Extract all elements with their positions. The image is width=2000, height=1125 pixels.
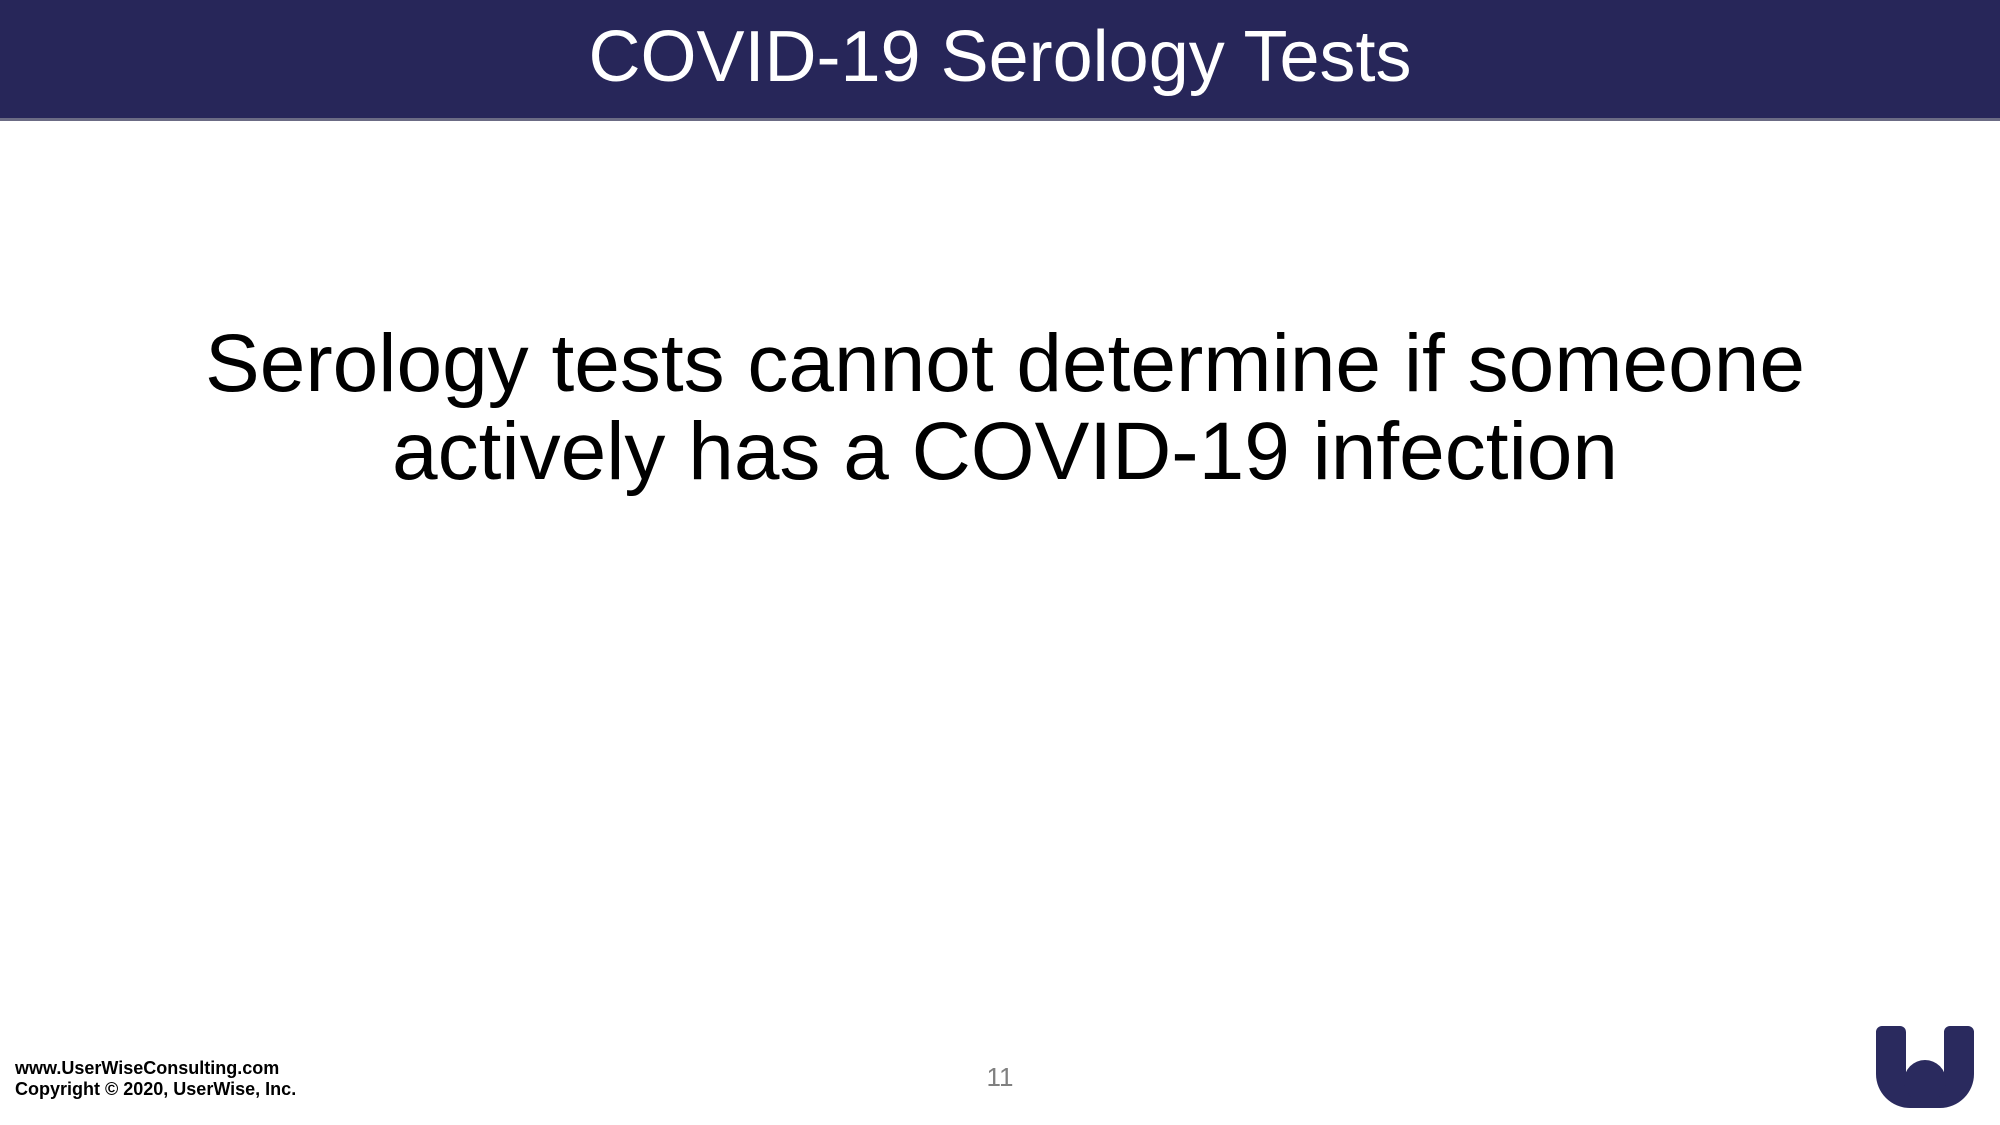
page-number: 11 [0,1062,2000,1092]
userwise-logo [1872,1026,1978,1108]
slide-title-bar: COVID-19 Serology Tests [0,0,2000,118]
body-line-2: actively has a COVID-19 infection [140,408,1870,496]
body-line-1: Serology tests cannot determine if someo… [140,320,1870,408]
slide-body: Serology tests cannot determine if someo… [140,320,1870,496]
slide: COVID-19 Serology Tests Serology tests c… [0,0,2000,1125]
page-title: COVID-19 Serology Tests [588,21,1411,93]
title-bar-underline [0,118,2000,121]
